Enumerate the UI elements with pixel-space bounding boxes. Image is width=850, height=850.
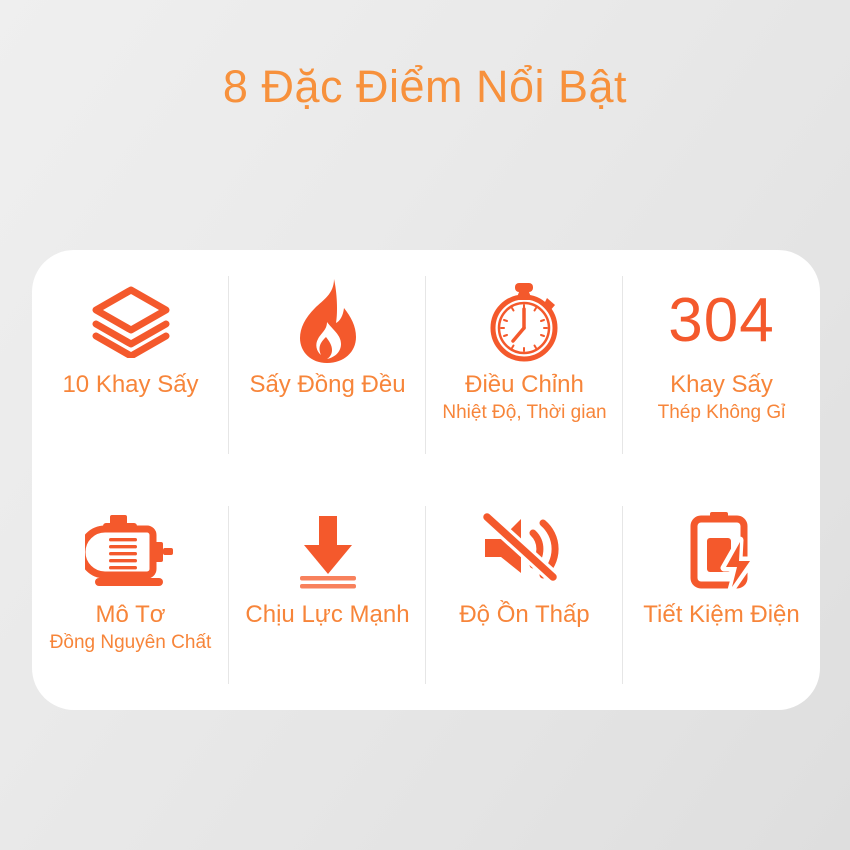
feature-label-main: Mô Tơ	[50, 600, 212, 630]
battery-bolt-icon	[684, 508, 760, 594]
feature-cell-energy-saving: Tiết Kiệm Điện	[623, 480, 820, 710]
feature-labels: Độ Ồn Thấp	[459, 600, 589, 630]
flame-icon	[293, 278, 363, 364]
down-arrow-press-icon	[290, 508, 366, 594]
stopwatch-icon	[485, 278, 565, 364]
feature-labels: Điều Chỉnh Nhiệt Độ, Thời gian	[442, 370, 606, 425]
feature-cell-stainless-trays: 304 Khay Sấy Thép Không Gỉ	[623, 250, 820, 480]
number-304-icon: 304	[668, 278, 774, 364]
feature-labels: Khay Sấy Thép Không Gỉ	[658, 370, 786, 425]
feature-labels: Sấy Đồng Đều	[249, 370, 405, 400]
feature-label-main: Độ Ồn Thấp	[459, 600, 589, 630]
feature-label-main: Sấy Đồng Đều	[249, 370, 405, 400]
feature-cell-adjustable: Điều Chỉnh Nhiệt Độ, Thời gian	[426, 250, 623, 480]
feature-cell-low-noise: Độ Ồn Thấp	[426, 480, 623, 710]
feature-label-sub: Đồng Nguyên Chất	[50, 631, 212, 655]
feature-labels: 10 Khay Sấy	[62, 370, 198, 400]
speaker-mute-icon	[479, 508, 571, 594]
feature-label-main: Chịu Lực Mạnh	[245, 600, 409, 630]
feature-cell-even-drying: Sấy Đồng Đều	[229, 250, 426, 480]
feature-cell-tray-count: 10 Khay Sấy	[32, 250, 229, 480]
feature-labels: Chịu Lực Mạnh	[245, 600, 409, 630]
feature-label-main: Điều Chỉnh	[442, 370, 606, 400]
feature-labels: Tiết Kiệm Điện	[643, 600, 800, 630]
feature-label-sub: Thép Không Gỉ	[658, 401, 786, 425]
features-card: 10 Khay Sấy Sấy Đồng Đều	[32, 250, 820, 710]
feature-highlights-page: 8 Đặc Điểm Nổi Bật 10 Khay Sấy	[0, 0, 850, 850]
stainless-grade-number: 304	[668, 292, 774, 351]
features-grid: 10 Khay Sấy Sấy Đồng Đều	[32, 250, 820, 710]
motor-icon	[85, 508, 177, 594]
feature-cell-load-bearing: Chịu Lực Mạnh	[229, 480, 426, 710]
page-title: 8 Đặc Điểm Nổi Bật	[0, 62, 850, 112]
feature-label-main: Khay Sấy	[658, 370, 786, 400]
feature-label-main: Tiết Kiệm Điện	[643, 600, 800, 630]
layers-icon	[88, 278, 174, 364]
feature-cell-motor: Mô Tơ Đồng Nguyên Chất	[32, 480, 229, 710]
feature-labels: Mô Tơ Đồng Nguyên Chất	[50, 600, 212, 655]
feature-label-main: 10 Khay Sấy	[62, 370, 198, 400]
feature-label-sub: Nhiệt Độ, Thời gian	[442, 401, 606, 425]
